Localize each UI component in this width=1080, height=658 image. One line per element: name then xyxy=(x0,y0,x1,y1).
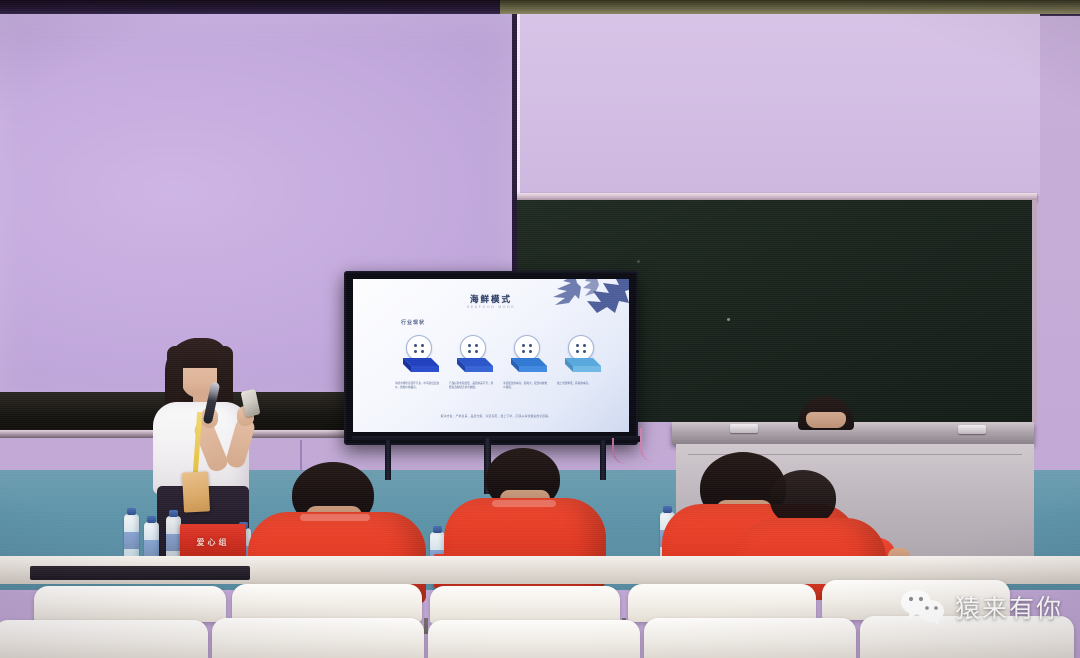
flat-panel-television: 海鲜模式 SEAFOOD MODE 行业现状 xyxy=(344,271,638,445)
slide-column: 线上渗透率低，获客成本高。 xyxy=(557,335,603,390)
slide-column: 产品标准化程度低，品质参差不齐，消费者选购缺乏参考依据。 xyxy=(449,335,495,390)
bottle-cap xyxy=(147,516,156,523)
person-block-icon xyxy=(449,335,495,379)
chair-back xyxy=(860,616,1074,658)
slide-column-text: 线上渗透率低，获客成本高。 xyxy=(555,382,605,386)
block-shape xyxy=(451,352,493,372)
slide-column-text: 海鲜市场供应链环节多，中间商层层加价，终端价格偏高。 xyxy=(393,382,443,390)
person-block-icon xyxy=(557,335,603,379)
bottle-cap xyxy=(127,508,136,515)
mineral-water-bottle xyxy=(124,514,139,562)
slide-section-tag: 行业现状 xyxy=(401,319,425,326)
person-block-icon xyxy=(503,335,549,379)
ceiling-trim-right xyxy=(500,0,1080,14)
chair-back xyxy=(428,620,640,658)
chair-back xyxy=(212,618,424,658)
desk-clip xyxy=(730,424,758,433)
slide-columns: 海鲜市场供应链环节多，中间商层层加价，终端价格偏高。 xyxy=(395,335,601,390)
chair-back xyxy=(0,620,208,658)
slide-column-text: 冷链配送成本高，损耗大，配送时效难以保障。 xyxy=(501,382,551,390)
tv-screen: 海鲜模式 SEAFOOD MODE 行业现状 xyxy=(353,279,629,432)
bottle-label xyxy=(166,534,181,551)
slide-subtitle: SEAFOOD MODE xyxy=(353,305,629,309)
slide-title: 海鲜模式 xyxy=(353,293,629,305)
chair-back xyxy=(34,586,226,622)
name-badge xyxy=(182,471,210,512)
slide-column: 冷链配送成本高，损耗大，配送时效难以保障。 xyxy=(503,335,549,390)
tv-stand-leg xyxy=(385,440,391,480)
bottle-cap xyxy=(663,506,672,513)
slide-column: 海鲜市场供应链环节多，中间商层层加价，终端价格偏高。 xyxy=(395,335,441,390)
slide-footer-text: 解决方案：产地直采、品质分级、冷链直配、线上下单，打通从海到餐桌的全链路。 xyxy=(397,414,595,418)
block-shape xyxy=(505,352,547,372)
chair-back xyxy=(628,584,816,622)
audience-back-row-face xyxy=(806,412,846,428)
chair-back xyxy=(232,584,422,622)
nameplate-left: 爱心组 xyxy=(180,524,246,560)
slide-column-text: 产品标准化程度低，品质参差不齐，消费者选购缺乏参考依据。 xyxy=(447,382,497,390)
chair-back xyxy=(822,580,1010,620)
presentation-slide: 海鲜模式 SEAFOOD MODE 行业现状 xyxy=(353,279,629,432)
wall-panel-right xyxy=(517,14,1040,196)
chair-back xyxy=(644,618,856,658)
person-block-icon xyxy=(395,335,441,379)
desk-clip xyxy=(958,425,986,434)
desk-ledge xyxy=(30,566,250,580)
audience-collar xyxy=(492,500,556,507)
tv-crossbar xyxy=(352,436,642,442)
power-cable xyxy=(612,438,640,464)
bottle-label xyxy=(144,540,159,557)
tv-stand-leg xyxy=(600,440,606,480)
bottle-cap xyxy=(433,526,442,533)
bottle-label xyxy=(124,532,139,549)
audience-collar xyxy=(300,514,370,521)
power-cable xyxy=(640,428,662,462)
classroom-presentation-photo: 海鲜模式 SEAFOOD MODE 行业现状 xyxy=(0,0,1080,658)
nameplate-left-text: 爱心组 xyxy=(197,537,230,548)
bottle-cap xyxy=(169,510,178,517)
chair-back xyxy=(430,586,620,624)
block-shape xyxy=(397,352,439,372)
block-shape xyxy=(559,352,601,372)
